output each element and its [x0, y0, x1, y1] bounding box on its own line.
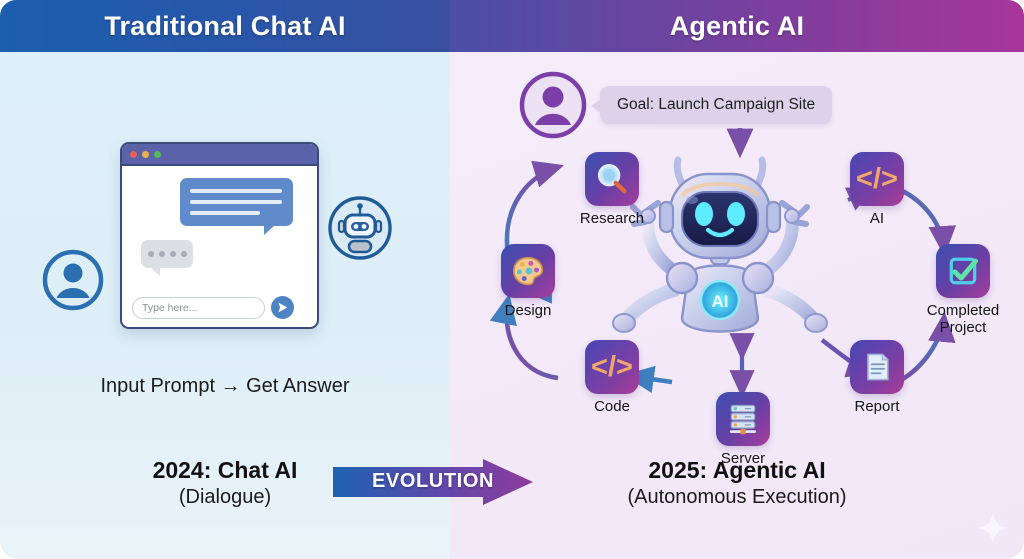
message-line	[190, 200, 282, 204]
code-brackets-icon: </>	[585, 340, 639, 394]
node-label: Research	[564, 211, 660, 227]
typing-dot	[148, 251, 154, 257]
message-line	[190, 211, 260, 215]
goal-user-avatar-icon	[518, 70, 588, 140]
goal-bubble: Goal: Launch Campaign Site	[600, 86, 832, 124]
user-avatar-icon	[42, 249, 104, 311]
header-left-title: Traditional Chat AI	[104, 11, 345, 42]
node-research[interactable]: Research	[564, 152, 660, 227]
node-label-line2: Project	[915, 320, 1011, 337]
node-label: Design	[480, 303, 576, 319]
node-label-line1: Completed	[915, 303, 1011, 320]
node-report[interactable]: Report	[829, 340, 925, 415]
close-icon[interactable]	[130, 151, 137, 158]
message-line	[190, 189, 282, 193]
header-right-title: Agentic AI	[670, 11, 805, 42]
robot-head-icon	[327, 195, 393, 261]
typing-dot	[181, 251, 187, 257]
chat-body: Type here...	[122, 166, 317, 327]
magnifying-glass-icon	[585, 152, 639, 206]
node-label: Completed Project	[915, 303, 1011, 337]
node-server[interactable]: Server	[695, 392, 791, 467]
maximize-icon[interactable]	[154, 151, 161, 158]
ai-message-bubble	[180, 178, 293, 226]
send-icon[interactable]	[271, 296, 294, 319]
server-rack-icon	[716, 392, 770, 446]
node-completed-project[interactable]: Completed Project	[915, 244, 1011, 337]
goal-bubble-text: Goal: Launch Campaign Site	[617, 96, 815, 114]
chat-input-placeholder: Type here...	[142, 302, 197, 314]
checkbox-check-icon	[936, 244, 990, 298]
chat-input[interactable]: Type here...	[132, 297, 265, 319]
document-page-icon	[850, 340, 904, 394]
chat-window: Type here...	[120, 142, 319, 329]
typing-dot	[159, 251, 165, 257]
node-label: Server	[695, 451, 791, 467]
code-brackets-icon: </>	[850, 152, 904, 206]
robot-chest-badge-text: AI	[712, 292, 729, 311]
paint-palette-icon	[501, 244, 555, 298]
node-label: Code	[564, 399, 660, 415]
node-ai[interactable]: </> AI	[829, 152, 925, 227]
typing-indicator-bubble	[141, 240, 193, 268]
node-design[interactable]: Design	[480, 244, 576, 319]
minimize-icon[interactable]	[142, 151, 149, 158]
four-point-star-sparkle-icon	[976, 511, 1010, 545]
header-left: Traditional Chat AI	[0, 0, 450, 52]
node-code[interactable]: </> Code	[564, 340, 660, 415]
node-label: AI	[829, 211, 925, 227]
chat-window-titlebar	[122, 144, 317, 166]
infographic-root: Traditional Chat AI Agentic AI	[0, 0, 1024, 559]
left-caption: Input Prompt → Get Answer	[0, 375, 450, 398]
header-right: Agentic AI	[450, 0, 1024, 52]
node-label: Report	[829, 399, 925, 415]
typing-dot	[170, 251, 176, 257]
chat-input-row: Type here...	[132, 296, 294, 319]
